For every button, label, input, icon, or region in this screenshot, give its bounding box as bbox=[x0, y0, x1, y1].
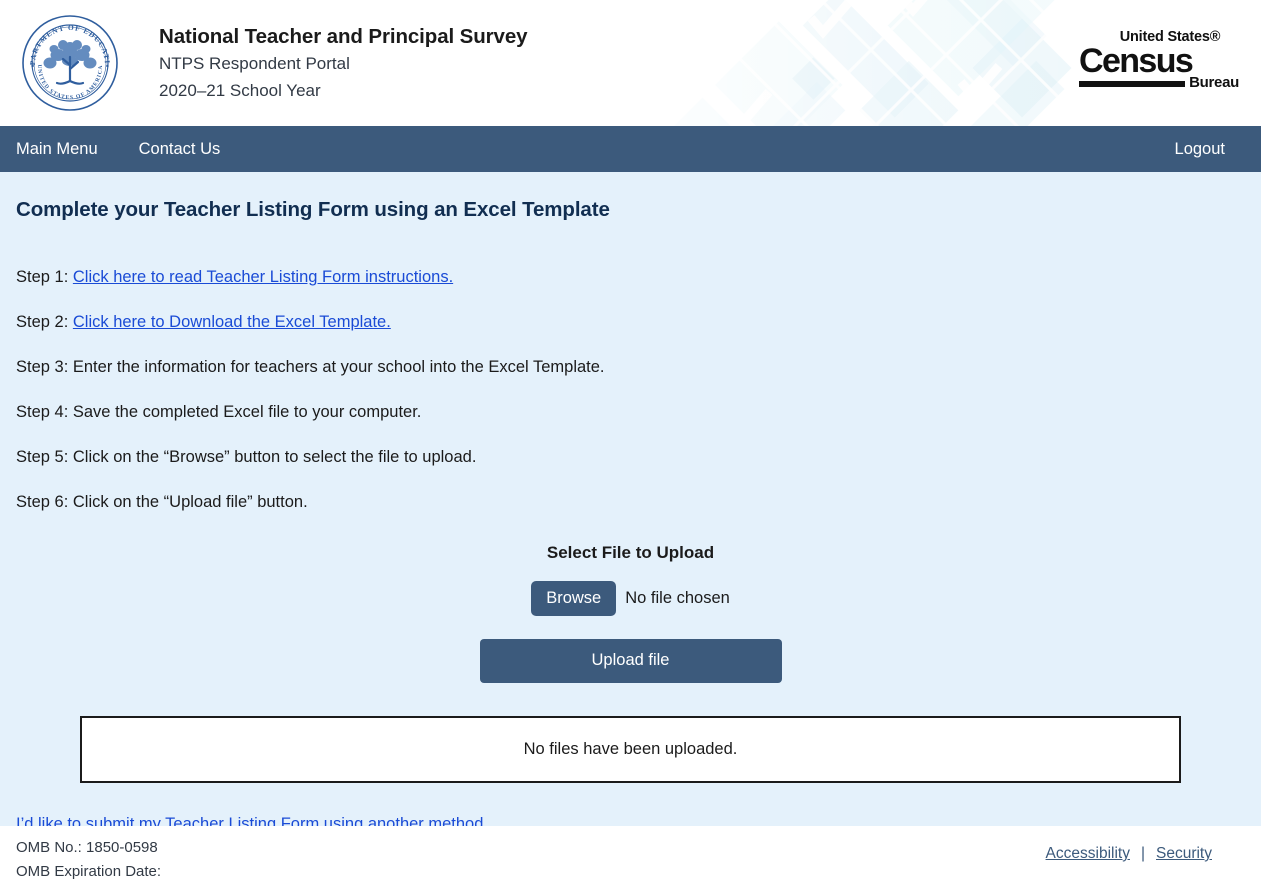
instructions-link[interactable]: Click here to read Teacher Listing Form … bbox=[73, 268, 453, 286]
step-item-4: Step 4: Save the completed Excel file to… bbox=[16, 404, 1245, 421]
browse-button[interactable]: Browse bbox=[531, 581, 616, 617]
step-item-2: Step 2: Click here to Download the Excel… bbox=[16, 314, 1245, 331]
step-6-prefix: Step 6: bbox=[16, 493, 73, 511]
upload-file-button[interactable]: Upload file bbox=[480, 639, 782, 683]
page-title: Complete your Teacher Listing Form using… bbox=[16, 172, 1245, 222]
department-of-education-seal-icon: DEPARTMENT OF EDUCATION UNITED STATES OF… bbox=[20, 13, 120, 113]
step-3-text: Enter the information for teachers at yo… bbox=[73, 358, 605, 376]
omb-number: OMB No.: 1850-0598 bbox=[16, 836, 161, 860]
omb-expiration-date: OMB Expiration Date: bbox=[16, 860, 161, 884]
header-title-group: National Teacher and Principal Survey NT… bbox=[159, 24, 527, 104]
census-bureau-logo: United States® Census Bureau bbox=[1079, 30, 1239, 90]
nav-right-group: Logout bbox=[1175, 126, 1245, 172]
uploaded-files-empty-message: No files have been uploaded. bbox=[524, 740, 738, 759]
nav-item-contact-us[interactable]: Contact Us bbox=[139, 126, 221, 172]
step-4-text: Save the completed Excel file to your co… bbox=[73, 403, 422, 421]
step-5-text: Click on the “Browse” button to select t… bbox=[73, 448, 477, 466]
page-root: DEPARTMENT OF EDUCATION UNITED STATES OF… bbox=[0, 0, 1261, 893]
main-content: Complete your Teacher Listing Form using… bbox=[0, 172, 1261, 826]
nav-item-main-menu[interactable]: Main Menu bbox=[16, 126, 98, 172]
step-3-prefix: Step 3: bbox=[16, 358, 73, 376]
upload-section: Select File to Upload Browse No file cho… bbox=[16, 543, 1245, 783]
footer-links-group: Accessibility|Security bbox=[1046, 845, 1212, 863]
census-logo-rule bbox=[1079, 81, 1185, 87]
site-footer: OMB No.: 1850-0598 OMB Expiration Date: … bbox=[0, 826, 1261, 893]
site-title: National Teacher and Principal Survey bbox=[159, 24, 527, 50]
primary-navigation: Main Menu Contact Us Logout bbox=[0, 126, 1261, 172]
steps-list: Step 1: Click here to read Teacher Listi… bbox=[16, 269, 1245, 511]
download-template-link[interactable]: Click here to Download the Excel Templat… bbox=[73, 313, 391, 331]
step-item-5: Step 5: Click on the “Browse” button to … bbox=[16, 449, 1245, 466]
file-input-row: Browse No file chosen bbox=[16, 581, 1245, 617]
upload-section-label: Select File to Upload bbox=[16, 543, 1245, 563]
site-subtitle: NTPS Respondent Portal bbox=[159, 50, 527, 77]
census-logo-bureau: Bureau bbox=[1189, 75, 1239, 90]
step-2-prefix: Step 2: bbox=[16, 313, 73, 331]
nav-item-logout[interactable]: Logout bbox=[1175, 140, 1225, 158]
footer-link-accessibility[interactable]: Accessibility bbox=[1046, 845, 1130, 862]
uploaded-files-panel: No files have been uploaded. bbox=[80, 716, 1181, 783]
step-4-prefix: Step 4: bbox=[16, 403, 73, 421]
step-5-prefix: Step 5: bbox=[16, 448, 73, 466]
site-header: DEPARTMENT OF EDUCATION UNITED STATES OF… bbox=[0, 0, 1261, 126]
step-item-3: Step 3: Enter the information for teache… bbox=[16, 359, 1245, 376]
step-item-6: Step 6: Click on the “Upload file” butto… bbox=[16, 494, 1245, 511]
selected-file-name: No file chosen bbox=[625, 589, 730, 608]
census-logo-census: Census bbox=[1079, 44, 1239, 79]
site-school-year: 2020–21 School Year bbox=[159, 77, 527, 104]
step-1-prefix: Step 1: bbox=[16, 268, 73, 286]
nav-left-group: Main Menu Contact Us bbox=[16, 126, 261, 172]
footer-link-separator: | bbox=[1141, 845, 1145, 862]
footer-omb-group: OMB No.: 1850-0598 OMB Expiration Date: bbox=[16, 836, 161, 884]
footer-link-security[interactable]: Security bbox=[1156, 845, 1212, 862]
step-6-text: Click on the “Upload file” button. bbox=[73, 493, 308, 511]
step-item-1: Step 1: Click here to read Teacher Listi… bbox=[16, 269, 1245, 286]
